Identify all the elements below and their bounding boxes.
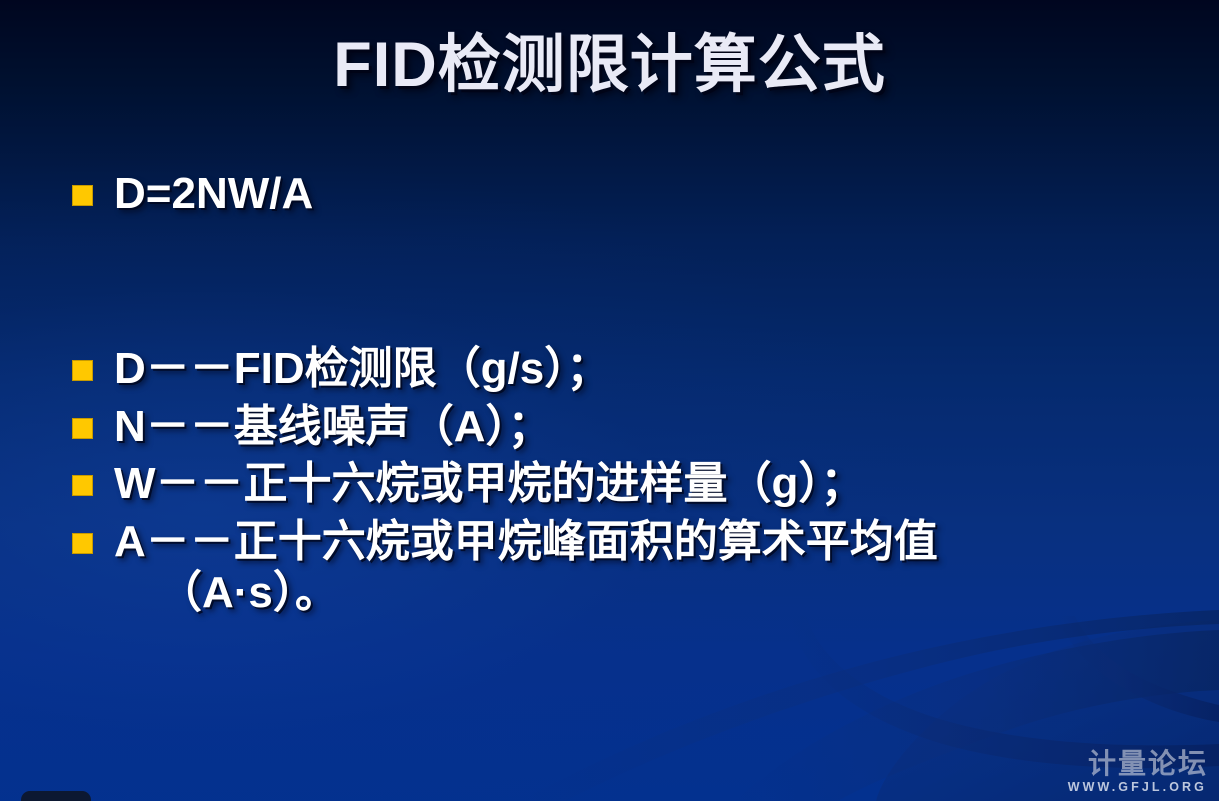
list-item-text-line2: （A·s）。 <box>114 567 1182 618</box>
list-item-text: D－－FID检测限（g/s）； <box>114 343 1182 394</box>
list-item-text: N－－基线噪声（A）； <box>114 401 1182 452</box>
square-bullet-icon <box>72 185 93 206</box>
watermark-name: 计量论坛 <box>1068 750 1208 778</box>
list-item-text: A－－正十六烷或甲烷峰面积的算术平均值 （A·s）。 <box>114 516 1182 619</box>
bullet-list: D=2NW/A D－－FID检测限（g/s）； N－－基线噪声（A）； W－－正… <box>72 168 1182 625</box>
slide-canvas: FID检测限计算公式 D=2NW/A D－－FID检测限（g/s）； N－－基线… <box>0 0 1219 801</box>
square-bullet-icon <box>72 360 93 381</box>
list-spacer <box>72 225 1182 343</box>
list-item: N－－基线噪声（A）； <box>72 401 1182 452</box>
list-item: D－－FID检测限（g/s）； <box>72 343 1182 394</box>
page-title: FID检测限计算公式 <box>333 14 885 105</box>
title-block: FID检测限计算公式 <box>0 14 1219 105</box>
list-item: A－－正十六烷或甲烷峰面积的算术平均值 （A·s）。 <box>72 516 1182 619</box>
watermark-url: WWW.GFJL.ORG <box>1068 781 1207 794</box>
square-bullet-icon <box>72 475 93 496</box>
watermark: 计量论坛 WWW.GFJL.ORG <box>1068 750 1208 794</box>
list-item-text-line1: A－－正十六烷或甲烷峰面积的算术平均值 <box>114 517 938 566</box>
square-bullet-icon <box>72 418 93 439</box>
list-item-text: W－－正十六烷或甲烷的进样量（g）； <box>114 458 1182 509</box>
square-bullet-icon <box>72 533 93 554</box>
list-item: W－－正十六烷或甲烷的进样量（g）； <box>72 458 1182 509</box>
list-item-text: D=2NW/A <box>114 168 1182 219</box>
list-item: D=2NW/A <box>72 168 1182 219</box>
corner-tab-decoration <box>21 791 91 801</box>
